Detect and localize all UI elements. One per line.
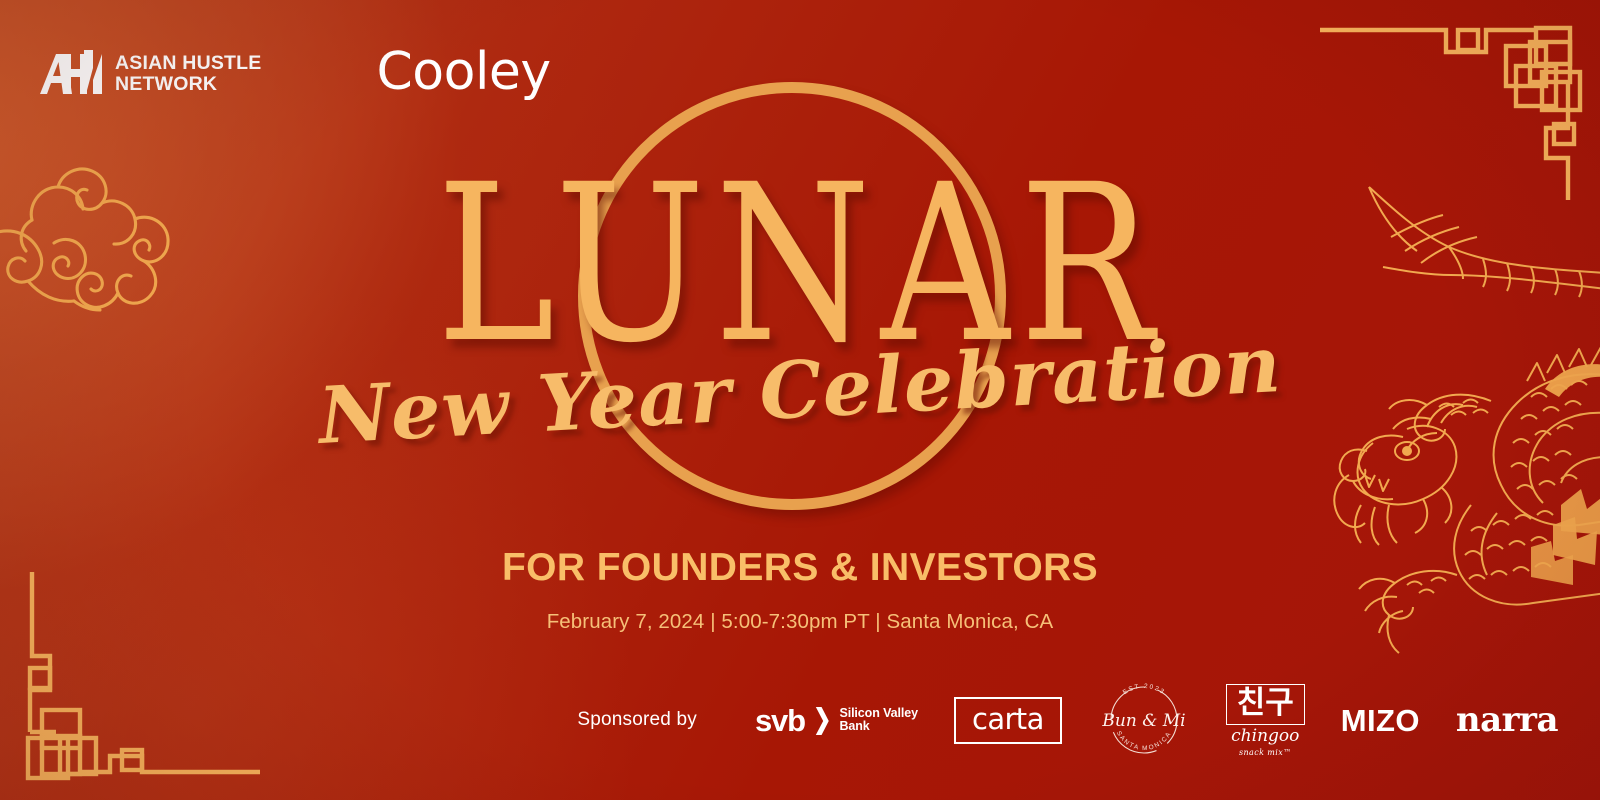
bun-and-mi-badge-icon: EST 2023 SANTA MONICA Bun & Mi — [1098, 674, 1190, 766]
svb-wordmark: svb — [755, 705, 805, 736]
chingoo-tagline: snack mix™ — [1239, 748, 1292, 757]
sponsor-logo-mizo: MIZO — [1341, 705, 1420, 736]
bun-and-mi-est: EST 2023 — [1121, 683, 1166, 696]
svb-chevron-icon: ❯ — [813, 706, 831, 733]
event-details-line: February 7, 2024 | 5:00-7:30pm PT | Sant… — [0, 610, 1600, 634]
sponsor-logo-svb: svb ❯ Silicon Valley Bank — [755, 705, 918, 736]
sponsor-logo-bun-and-mi: EST 2023 SANTA MONICA Bun & Mi — [1098, 674, 1190, 766]
chingoo-korean-box: 친구 — [1226, 684, 1305, 725]
sponsor-logo-carta: carta — [954, 697, 1062, 744]
lunar-new-year-banner: ASIAN HUSTLE NETWORK Cooley LUNAR New Ye… — [0, 0, 1600, 800]
sponsor-strip: Sponsored by svb ❯ Silicon Valley Bank c… — [0, 674, 1600, 766]
bun-and-mi-wordmark: Bun & Mi — [1101, 711, 1185, 731]
sponsor-logo-narra: narra — [1456, 703, 1558, 737]
chingoo-korean-text: 친구 — [1237, 688, 1294, 719]
svb-name-line2: Bank — [839, 720, 918, 733]
bun-and-mi-city: SANTA MONICA — [1115, 730, 1173, 752]
carta-wordmark: carta — [972, 705, 1044, 734]
sponsor-logo-chingoo: 친구 chingoo snack mix™ — [1226, 684, 1305, 757]
svg-text:SANTA MONICA: SANTA MONICA — [1115, 730, 1173, 752]
svg-text:EST 2023: EST 2023 — [1121, 683, 1166, 696]
chingoo-wordmark: chingoo — [1231, 728, 1299, 745]
hero-audience-line: FOR FOUNDERS & INVESTORS — [0, 546, 1600, 590]
svb-full-name: Silicon Valley Bank — [839, 707, 918, 733]
sponsored-by-label: Sponsored by — [577, 709, 697, 731]
